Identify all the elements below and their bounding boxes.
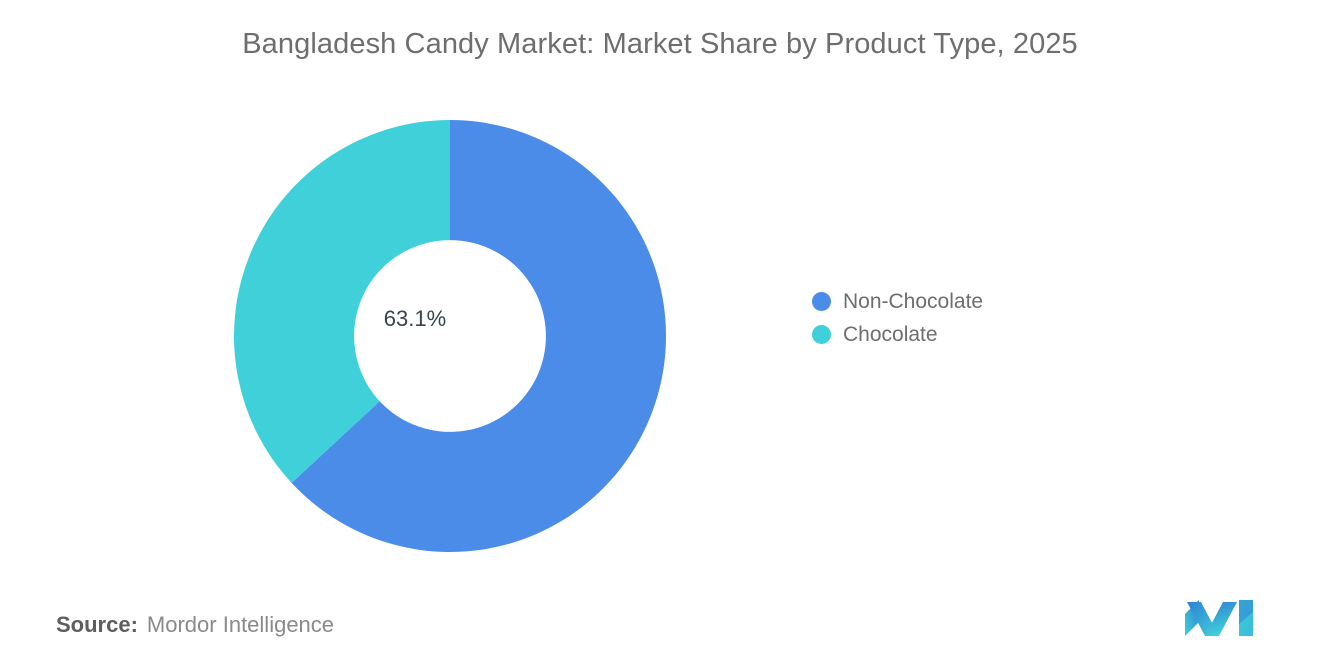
logo-mark: [1183, 598, 1255, 638]
donut-chart-svg: [234, 120, 666, 552]
donut-slices: [234, 120, 666, 552]
chart-legend: Non-Chocolate Chocolate: [812, 285, 1112, 351]
donut-chart: 63.1%: [234, 120, 666, 552]
legend-item-label: Non-Chocolate: [843, 290, 983, 314]
source-attribution: Source: Mordor Intelligence: [56, 612, 334, 638]
legend-color-swatch-icon: [812, 325, 831, 344]
source-value: Mordor Intelligence: [147, 612, 334, 638]
legend-item-chocolate[interactable]: Chocolate: [812, 318, 1112, 351]
legend-item-label: Chocolate: [843, 323, 938, 347]
legend-color-swatch-icon: [812, 292, 831, 311]
source-label: Source:: [56, 612, 138, 638]
mordor-intelligence-logo-icon: [1183, 598, 1255, 638]
legend-item-non-chocolate[interactable]: Non-Chocolate: [812, 285, 1112, 318]
page-title: Bangladesh Candy Market: Market Share by…: [0, 28, 1320, 61]
